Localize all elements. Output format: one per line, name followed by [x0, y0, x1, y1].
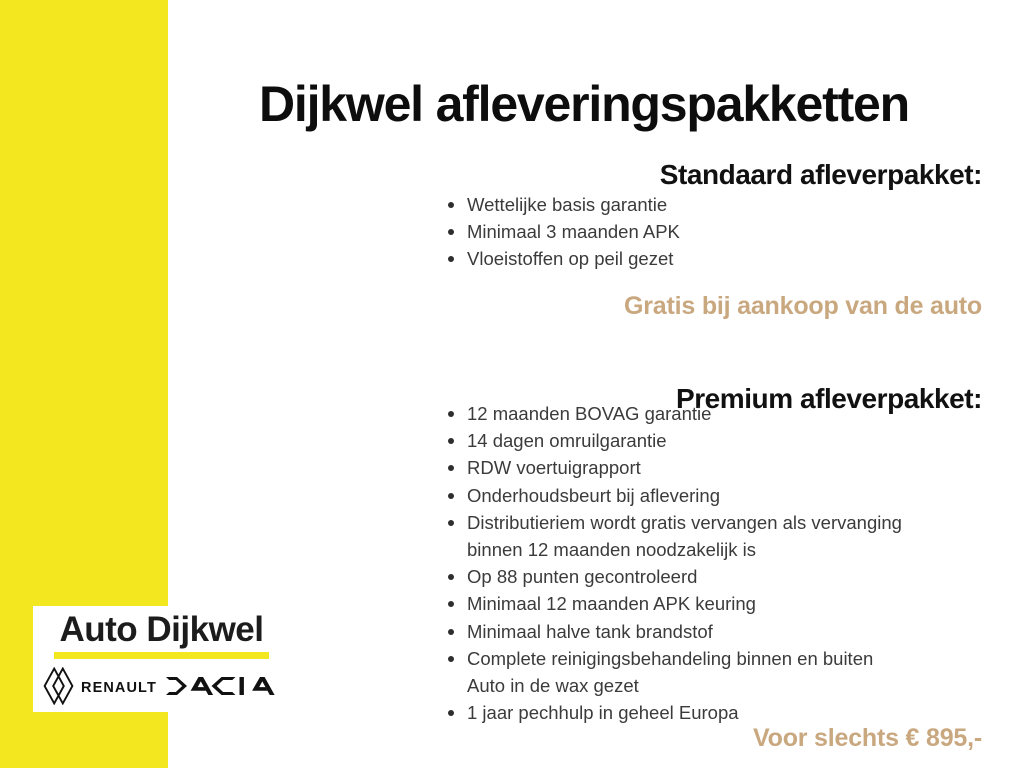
list-item-label: Minimaal halve tank brandstof: [467, 621, 713, 642]
logo-wordmark: Auto Dijkwel: [59, 612, 263, 649]
logo-divider-rule: [54, 652, 269, 659]
list-item-continuation: binnen 12 maanden noodzakelijk is: [467, 536, 902, 563]
accent-premium-price: Voor slechts € 895,-: [753, 724, 982, 753]
list-item: RDW voertuigrapport: [441, 454, 902, 481]
list-standaard-features: Wettelijke basis garantie Minimaal 3 maa…: [441, 191, 680, 273]
dealer-logo-card: Auto Dijkwel RENAULT: [33, 606, 290, 712]
page-title: Dijkwel afleveringspakketten: [186, 78, 982, 131]
list-item: Wettelijke basis garantie: [441, 191, 680, 218]
list-item: Minimaal halve tank brandstof: [441, 618, 902, 645]
list-item-label: RDW voertuigrapport: [467, 457, 641, 478]
list-item: Op 88 punten gecontroleerd: [441, 563, 902, 590]
renault-brand: RENAULT: [43, 667, 157, 710]
list-item-label: Onderhoudsbeurt bij aflevering: [467, 485, 720, 506]
slide-canvas: Dijkwel afleveringspakketten Standaard a…: [0, 0, 1024, 768]
list-item-label: Vloeistoffen op peil gezet: [467, 248, 673, 269]
list-item: 1 jaar pechhulp in geheel Europa: [441, 699, 902, 726]
list-item-label: 1 jaar pechhulp in geheel Europa: [467, 702, 739, 723]
list-item: 14 dagen omruilgarantie: [441, 427, 902, 454]
logo-brand-row: RENAULT: [33, 667, 290, 710]
list-item-label: Wettelijke basis garantie: [467, 194, 667, 215]
list-item-continuation: Auto in de wax gezet: [467, 672, 902, 699]
accent-standaard-price: Gratis bij aankoop van de auto: [624, 292, 982, 321]
list-item-label: Op 88 punten gecontroleerd: [467, 566, 697, 587]
list-item-label: Minimaal 12 maanden APK keuring: [467, 593, 756, 614]
list-item: Complete reinigingsbehandeling binnen en…: [441, 645, 902, 699]
list-premium-features: 12 maanden BOVAG garantie 14 dagen omrui…: [441, 400, 902, 726]
list-item-label: Complete reinigingsbehandeling binnen en…: [467, 648, 873, 669]
list-item-label: 12 maanden BOVAG garantie: [467, 403, 711, 424]
dacia-brand: [166, 675, 278, 702]
list-item: 12 maanden BOVAG garantie: [441, 400, 902, 427]
list-item-label: 14 dagen omruilgarantie: [467, 430, 667, 451]
list-item: Onderhoudsbeurt bij aflevering: [441, 482, 902, 509]
list-item: Distributieriem wordt gratis vervangen a…: [441, 509, 902, 563]
renault-diamond-icon: [43, 667, 74, 710]
list-item-label: Distributieriem wordt gratis vervangen a…: [467, 512, 902, 533]
renault-wordmark: RENAULT: [81, 680, 157, 696]
dacia-wordmark-icon: [166, 684, 278, 701]
list-item: Minimaal 3 maanden APK: [441, 218, 680, 245]
list-item-label: Minimaal 3 maanden APK: [467, 221, 680, 242]
heading-standaard-afleverpakket: Standaard afleverpakket:: [660, 159, 982, 191]
list-item: Vloeistoffen op peil gezet: [441, 245, 680, 272]
list-item: Minimaal 12 maanden APK keuring: [441, 590, 902, 617]
